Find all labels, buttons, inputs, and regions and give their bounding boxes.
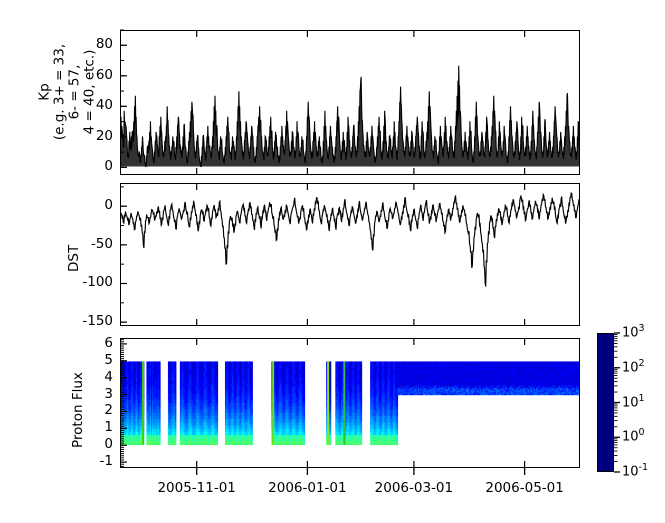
colorbar-tick-mantissa: 10	[622, 360, 639, 375]
ytick-label: -1	[100, 453, 113, 469]
proton-flux-axis-label: Proton Flux	[70, 372, 86, 448]
colorbar-tick-label: 101	[622, 393, 645, 410]
kp-axis-label-line-2: 6- = 57,	[68, 20, 83, 165]
ytick-label: 4	[104, 369, 113, 385]
dst-axis-label: DST	[66, 245, 82, 272]
xtick-label: 2006-05-01	[470, 480, 580, 496]
colorbar-tick-label: 100	[622, 427, 645, 444]
ytick-label: 0	[104, 158, 113, 174]
ytick-label: -100	[82, 274, 113, 290]
panel-proton-flux	[120, 338, 580, 468]
xtick-label: 2006-01-01	[252, 480, 362, 496]
colorbar-tick-mantissa: 10	[622, 325, 639, 340]
colorbar-tick-exponent: 0	[639, 427, 645, 438]
kp-timeseries-plot	[121, 31, 579, 174]
ytick-label: 20	[96, 128, 113, 144]
kp-axis-label: Kp (e.g. 3+ = 33, 6- = 57, 4 = 40, etc.)	[38, 20, 98, 165]
ytick-label: 1	[104, 419, 113, 435]
colorbar-tick-exponent: 3	[639, 323, 645, 334]
colorbar-tick-mantissa: 10	[622, 395, 639, 410]
colorbar-tick-label: 102	[622, 358, 645, 375]
colorbar-tick-mantissa: 10	[622, 464, 639, 479]
xtick-label: 2006-03-01	[359, 480, 469, 496]
proton-flux-heatmap	[121, 339, 579, 467]
ytick-label: 6	[104, 335, 113, 351]
panel-dst	[120, 183, 580, 326]
ytick-label: -50	[91, 236, 113, 252]
ytick-label: 5	[104, 352, 113, 368]
colorbar-tick-exponent: 2	[639, 358, 645, 369]
colorbar-tick-exponent: -1	[639, 462, 648, 473]
ytick-label: 0	[104, 197, 113, 213]
kp-axis-label-line-1: (e.g. 3+ = 33,	[53, 20, 68, 165]
proton-flux-colorbar	[597, 333, 614, 472]
ytick-label: 2	[104, 402, 113, 418]
colorbar-tick-mantissa: 10	[622, 430, 639, 445]
xtick-label: 2005-11-01	[142, 480, 252, 496]
ytick-label: 3	[104, 386, 113, 402]
panel-kp	[120, 30, 580, 175]
ytick-label: 60	[96, 67, 113, 83]
kp-axis-label-line-0: Kp	[38, 20, 53, 165]
ytick-label: 0	[104, 436, 113, 452]
dst-timeseries-plot	[121, 184, 579, 325]
colorbar-tick-label: 10-1	[622, 462, 648, 479]
ytick-label: 80	[96, 36, 113, 52]
colorbar-tick-exponent: 1	[639, 393, 645, 404]
ytick-label: -150	[82, 313, 113, 329]
ytick-label: 40	[96, 97, 113, 113]
figure-canvas: Kp (e.g. 3+ = 33, 6- = 57, 4 = 40, etc.)…	[0, 0, 665, 523]
colorbar-tick-label: 103	[622, 323, 645, 340]
